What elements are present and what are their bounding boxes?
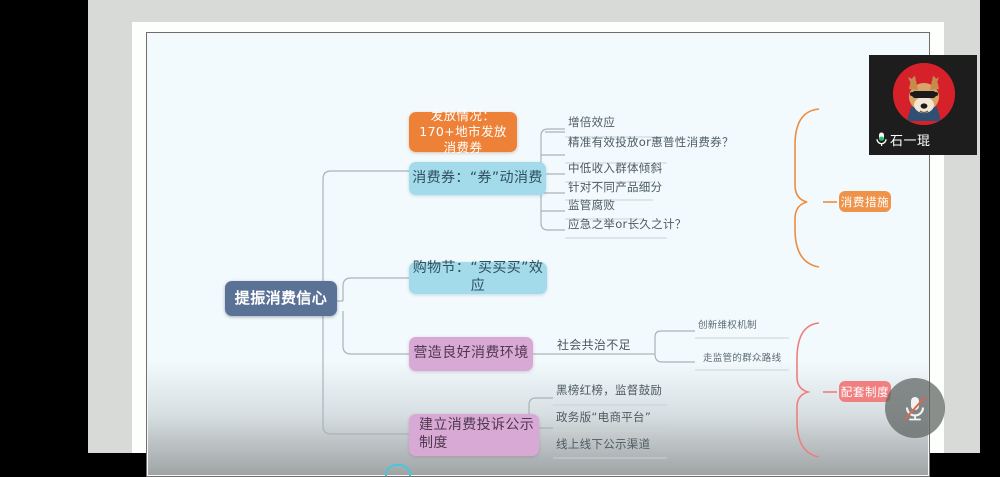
mindmap-branch-3[interactable]: 营造良好消费环境: [409, 337, 533, 371]
slide-canvas[interactable]: 提振消费信心 发放情况：170+地市发放消费券 消费券：“券”动消费 购物节：“…: [146, 32, 930, 477]
mindmap-root-node[interactable]: 提振消费信心: [225, 281, 337, 316]
mindmap-group-badge[interactable]: 消费措施: [839, 191, 891, 212]
leaf-item[interactable]: 增倍效应: [568, 117, 615, 129]
shared-window: 提振消费信心 发放情况：170+地市发放消费券 消费券：“券”动消费 购物节：“…: [88, 0, 980, 453]
document-page: 提振消费信心 发放情况：170+地市发放消费券 消费券：“券”动消费 购物节：“…: [132, 22, 944, 453]
leaf-item[interactable]: 社会共治不足: [557, 339, 631, 351]
screen: 提振消费信心 发放情况：170+地市发放消费券 消费券：“券”动消费 购物节：“…: [0, 0, 1000, 453]
mindmap-branch-4[interactable]: 建立消费投诉公示制度: [409, 414, 539, 456]
mindmap-group-badge[interactable]: 配套制度: [839, 381, 891, 402]
mindmap-branch-1[interactable]: 消费券：“券”动消费: [409, 162, 546, 195]
leaf-item[interactable]: 监管腐败: [568, 200, 615, 212]
mute-toggle-button[interactable]: [885, 378, 945, 438]
video-participant-tile[interactable]: 石一琨: [869, 55, 977, 155]
leaf-item[interactable]: 走监管的群众路线: [703, 354, 781, 364]
leaf-item[interactable]: 针对不同产品细分: [568, 182, 662, 194]
partial-node-arc: [385, 464, 411, 477]
participant-label: 石一琨: [875, 129, 931, 149]
leaf-item[interactable]: 创新维权机制: [698, 321, 757, 331]
leaf-item[interactable]: 精准有效投放or惠普性消费券？: [568, 137, 734, 149]
microphone-muted-icon: [898, 391, 932, 425]
mindmap-branch-2[interactable]: 购物节：“买买买”效应: [409, 262, 547, 294]
leaf-item[interactable]: 中低收入群体倾斜: [568, 163, 662, 175]
mindmap: 提振消费信心 发放情况：170+地市发放消费券 消费券：“券”动消费 购物节：“…: [147, 33, 929, 476]
leaf-item[interactable]: 应急之举or长久之计？: [568, 219, 687, 231]
participant-name: 石一琨: [890, 130, 931, 149]
mindmap-callout-node[interactable]: 发放情况：170+地市发放消费券: [409, 112, 517, 152]
mindmap-connectors: [147, 33, 929, 476]
microphone-icon: [875, 132, 888, 147]
avatar: [893, 63, 955, 125]
leaf-item[interactable]: 线上线下公示渠道: [556, 439, 650, 451]
shiba-inu-with-sunglasses-icon: [893, 63, 955, 125]
leaf-item[interactable]: 黑榜红榜，监督鼓励: [556, 385, 662, 397]
leaf-item[interactable]: 政务版“电商平台”: [556, 412, 651, 424]
